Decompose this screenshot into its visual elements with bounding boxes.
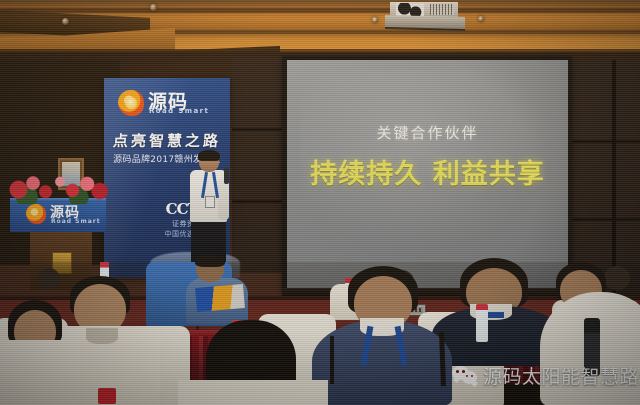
- wall-seam: [560, 140, 640, 143]
- podium-logo-en: Road Smart: [51, 218, 101, 225]
- wechat-watermark: 源码太阳能智慧路灯: [452, 362, 640, 389]
- microphone-icon: [224, 168, 229, 184]
- ceiling-spotlight: [150, 4, 157, 11]
- audience-hair: [195, 254, 225, 267]
- wechat-dot: [456, 370, 459, 373]
- wall-panel-middle: [232, 58, 288, 273]
- projector-mount: [385, 15, 465, 31]
- banner-brand-logo: 源码 Road Smart: [118, 88, 218, 118]
- speaker-badge: [205, 196, 215, 208]
- speaker-hair: [198, 150, 220, 161]
- flame-icon: [26, 204, 46, 224]
- wall-seam: [232, 200, 288, 203]
- ceiling-spotlight: [478, 16, 484, 22]
- ceiling-spotlight: [62, 18, 69, 25]
- flower-arrangement: [6, 168, 110, 204]
- conference-photo: 关键合作伙伴 持续持久 利益共享 源码 Road Smart 点亮智慧之路 源码…: [0, 0, 640, 405]
- projector-label: [396, 3, 424, 16]
- flame-inner-icon: [125, 97, 137, 109]
- speaker-arm: [218, 178, 229, 220]
- ceiling-spotlight: [372, 17, 378, 23]
- slide-subtitle: 关键合作伙伴: [287, 122, 568, 143]
- wechat-bubble-small-tail: [471, 380, 478, 387]
- shirt-collar: [86, 328, 118, 344]
- wall-seam: [560, 218, 640, 221]
- slide-headline: 持续持久 利益共享: [287, 152, 568, 191]
- audience-shoulders: [0, 340, 80, 405]
- chair-leg: [330, 336, 334, 384]
- watermark-account-name: 源码太阳能智慧路灯: [483, 362, 640, 389]
- water-bottle: [476, 304, 488, 342]
- wall-seam: [232, 128, 288, 131]
- banner-logo-en: Road Smart: [149, 107, 219, 115]
- wechat-dot: [462, 370, 465, 373]
- wechat-icon: [452, 366, 478, 385]
- chair-badge: [98, 388, 116, 404]
- ceiling-beam: [0, 8, 640, 13]
- brochure: [195, 284, 245, 312]
- audience-head-back: [604, 266, 630, 290]
- audience-head-back: [38, 268, 60, 290]
- projector-vents: [430, 4, 454, 15]
- audience-shoulders: [178, 380, 328, 405]
- banner-calligraphy-slogan: 点亮智慧之路: [105, 130, 228, 151]
